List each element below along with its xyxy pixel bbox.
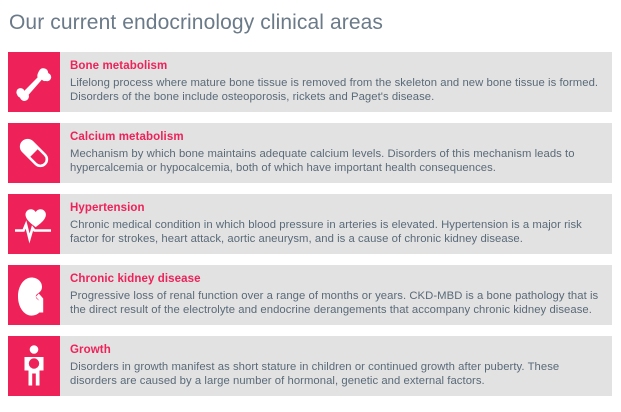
- list-item-heading: Growth: [70, 343, 602, 357]
- list-item-description: Lifelong process where mature bone tissu…: [70, 76, 602, 105]
- list-item-heading: Chronic kidney disease: [70, 272, 602, 286]
- list-item-body: Hypertension Chronic medical condition i…: [60, 194, 612, 254]
- bone-icon: [8, 52, 60, 112]
- list-item-description: Chronic medical condition in which blood…: [70, 218, 602, 247]
- list-item[interactable]: Growth Disorders in growth manifest as s…: [0, 336, 621, 396]
- list-item[interactable]: Bone metabolism Lifelong process where m…: [0, 52, 621, 112]
- list-item-heading: Calcium metabolism: [70, 130, 602, 144]
- person-growth-icon: [8, 336, 60, 396]
- heart-pulse-icon: [8, 194, 60, 254]
- list-item-heading: Hypertension: [70, 201, 602, 215]
- kidney-icon: [8, 265, 60, 325]
- list-item-body: Chronic kidney disease Progressive loss …: [60, 265, 612, 325]
- list-item-heading: Bone metabolism: [70, 59, 602, 73]
- clinical-areas-page: Our current endocrinology clinical areas…: [0, 0, 621, 412]
- list-item[interactable]: Chronic kidney disease Progressive loss …: [0, 265, 621, 325]
- list-item-description: Mechanism by which bone maintains adequa…: [70, 147, 602, 176]
- list-item-body: Bone metabolism Lifelong process where m…: [60, 52, 612, 112]
- list-item-description: Disorders in growth manifest as short st…: [70, 360, 602, 389]
- page-title: Our current endocrinology clinical areas: [9, 9, 383, 37]
- list-item[interactable]: Calcium metabolism Mechanism by which bo…: [0, 123, 621, 183]
- list-item-description: Progressive loss of renal function over …: [70, 289, 602, 318]
- list-item-body: Calcium metabolism Mechanism by which bo…: [60, 123, 612, 183]
- clinical-areas-list: Bone metabolism Lifelong process where m…: [0, 52, 621, 407]
- list-item-body: Growth Disorders in growth manifest as s…: [60, 336, 612, 396]
- capsule-pill-icon: [8, 123, 60, 183]
- list-item[interactable]: Hypertension Chronic medical condition i…: [0, 194, 621, 254]
